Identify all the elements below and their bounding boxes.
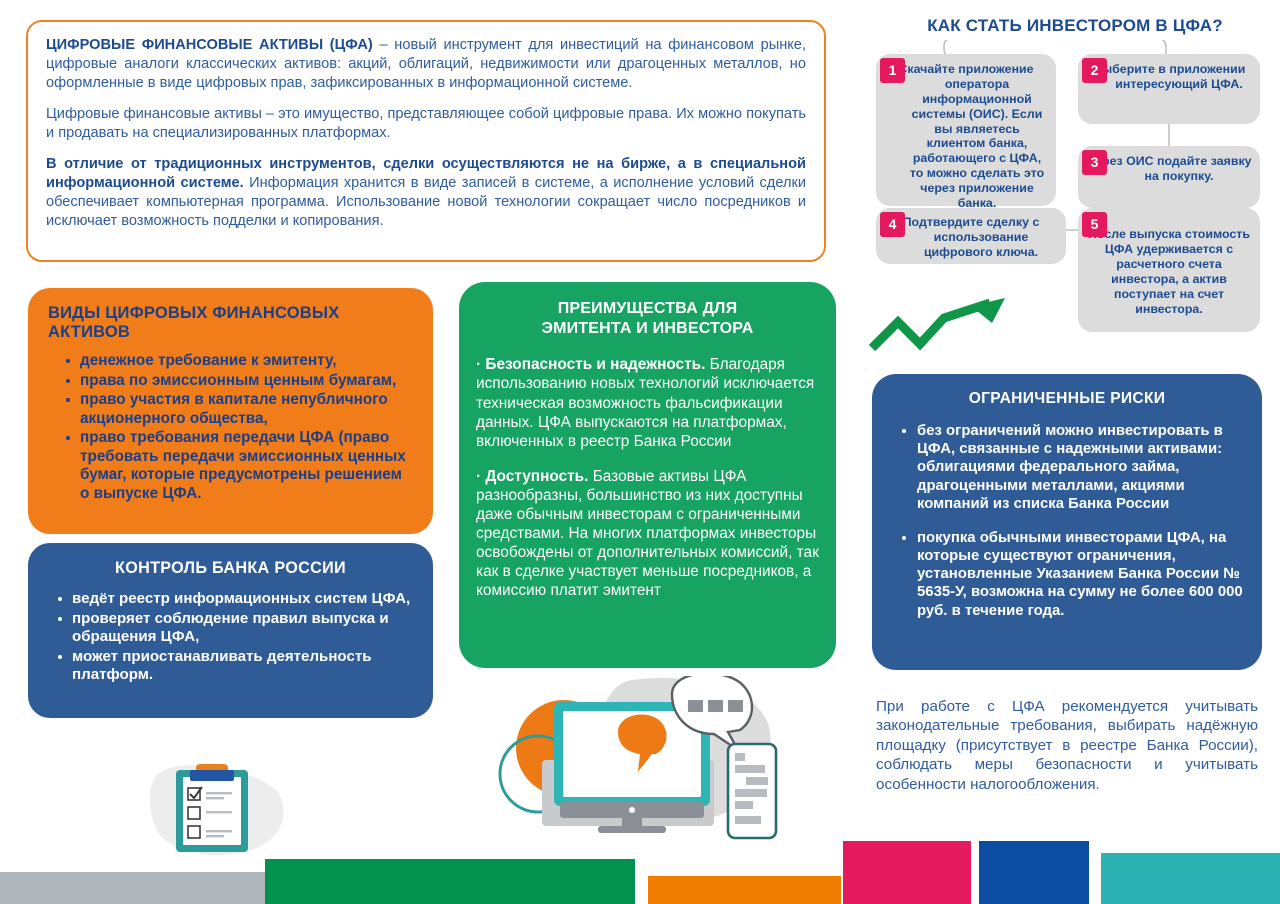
advantages-item-1-label: · Безопасность и надежность. bbox=[476, 356, 705, 373]
monitor-foot bbox=[598, 826, 666, 833]
intro-lead-term: ЦИФРОВЫЕ ФИНАНСОВЫЕ АКТИВЫ (ЦФА) bbox=[46, 37, 373, 53]
step-4-badge: 4 bbox=[880, 212, 905, 237]
intro-paragraph-1: ЦИФРОВЫЕ ФИНАНСОВЫЕ АКТИВЫ (ЦФА) – новый… bbox=[46, 36, 806, 93]
list-item: ведёт реестр информационных систем ЦФА, bbox=[58, 590, 417, 608]
footer-bar-gray bbox=[0, 872, 265, 904]
intro-panel: ЦИФРОВЫЕ ФИНАНСОВЫЕ АКТИВЫ (ЦФА) – новый… bbox=[26, 20, 826, 262]
advantages-item-2-label: · Доступность. bbox=[476, 468, 588, 485]
control-panel: КОНТРОЛЬ БАНКА РОССИИ ведёт реестр инфор… bbox=[28, 543, 433, 718]
bubble-dot-3 bbox=[728, 700, 743, 712]
step-2-text: Выберите в приложении интересующий ЦФА. bbox=[1086, 62, 1252, 92]
growth-arrow-icon bbox=[868, 296, 1018, 358]
how-to-title: КАК СТАТЬ ИНВЕСТОРОМ В ЦФА? bbox=[880, 16, 1270, 36]
footer-bar-green bbox=[265, 859, 635, 904]
step-4-text: Подтвердите сделку с использование цифро… bbox=[884, 215, 1058, 260]
footer-note: При работе с ЦФА рекомендуется учитывать… bbox=[876, 697, 1258, 794]
footer-bar-orange bbox=[648, 876, 841, 904]
footer-bar-pink bbox=[843, 841, 971, 904]
risks-list: без ограничений можно инвестировать в ЦФ… bbox=[888, 422, 1246, 620]
list-item: покупка обычными инвесторами ЦФА, на кот… bbox=[902, 529, 1246, 620]
step-2-badge: 2 bbox=[1082, 58, 1107, 83]
advantages-panel: ПРЕИМУЩЕСТВА ДЛЯ ЭМИТЕНТА И ИНВЕСТОРА · … bbox=[459, 282, 836, 668]
bubble-dot-1 bbox=[688, 700, 703, 712]
types-panel: ВИДЫ ЦИФРОВЫХ ФИНАНСОВЫХ АКТИВОВ денежно… bbox=[28, 288, 433, 534]
bubble-dot-2 bbox=[708, 700, 723, 712]
advantages-item-2-text: Базовые активы ЦФА разнообразны, большин… bbox=[476, 468, 819, 600]
control-list: ведёт реестр информационных систем ЦФА, … bbox=[44, 590, 417, 685]
list-item: право требования передачи ЦФА (право тре… bbox=[66, 429, 415, 503]
clipboard-checklist-icon bbox=[140, 752, 310, 867]
advantages-title: ПРЕИМУЩЕСТВА ДЛЯ ЭМИТЕНТА И ИНВЕСТОРА bbox=[476, 299, 819, 339]
advantages-title-line-2: ЭМИТЕНТА И ИНВЕСТОРА bbox=[476, 319, 819, 339]
step-3-text: Через ОИС подайте заявку на покупку. bbox=[1086, 154, 1252, 184]
intro-paragraph-2: Цифровые финансовые активы – это имущест… bbox=[46, 105, 806, 143]
monitor-stand bbox=[622, 818, 642, 826]
risks-title: ОГРАНИЧЕННЫЕ РИСКИ bbox=[888, 390, 1246, 408]
list-item: денежное требование к эмитенту, bbox=[66, 352, 415, 371]
step-5-badge: 5 bbox=[1082, 212, 1107, 237]
list-item: право участия в капитале непубличного ак… bbox=[66, 391, 415, 428]
computer-chat-illustration bbox=[492, 676, 832, 856]
step-1-text: Скачайте приложение оператора информацио… bbox=[883, 62, 1049, 211]
footer-bar-blue bbox=[979, 841, 1089, 904]
infographic-page: ЦИФРОВЫЕ ФИНАНСОВЫЕ АКТИВЫ (ЦФА) – новый… bbox=[0, 0, 1280, 904]
list-item: права по эмиссионным ценным бумагам, bbox=[66, 372, 415, 391]
step-5-text: После выпуска стоимость ЦФА удерживается… bbox=[1087, 227, 1251, 316]
list-item: без ограничений можно инвестировать в ЦФ… bbox=[902, 422, 1246, 513]
step-3-badge: 3 bbox=[1082, 150, 1107, 175]
advantages-title-line-1: ПРЕИМУЩЕСТВА ДЛЯ bbox=[476, 299, 819, 319]
how-to-steps: Скачайте приложение оператора информацио… bbox=[866, 40, 1270, 332]
advantages-item-1: · Безопасность и надежность. Благодаря и… bbox=[476, 355, 819, 450]
list-item: проверяет соблюдение правил выпуска и об… bbox=[58, 610, 417, 646]
control-title: КОНТРОЛЬ БАНКА РОССИИ bbox=[44, 559, 417, 578]
monitor-power-dot bbox=[629, 807, 635, 813]
types-title: ВИДЫ ЦИФРОВЫХ ФИНАНСОВЫХ АКТИВОВ bbox=[48, 304, 415, 342]
types-list: денежное требование к эмитенту, права по… bbox=[46, 352, 415, 503]
intro-paragraph-3: В отличие от традиционных инструментов, … bbox=[46, 155, 806, 231]
footer-bar-teal bbox=[1101, 853, 1280, 904]
list-item: может приостанавливать деятельность плат… bbox=[58, 648, 417, 684]
advantages-item-2: · Доступность. Базовые активы ЦФА разноо… bbox=[476, 467, 819, 601]
step-1-badge: 1 bbox=[880, 58, 905, 83]
risks-panel: ОГРАНИЧЕННЫЕ РИСКИ без ограничений можно… bbox=[872, 374, 1262, 670]
